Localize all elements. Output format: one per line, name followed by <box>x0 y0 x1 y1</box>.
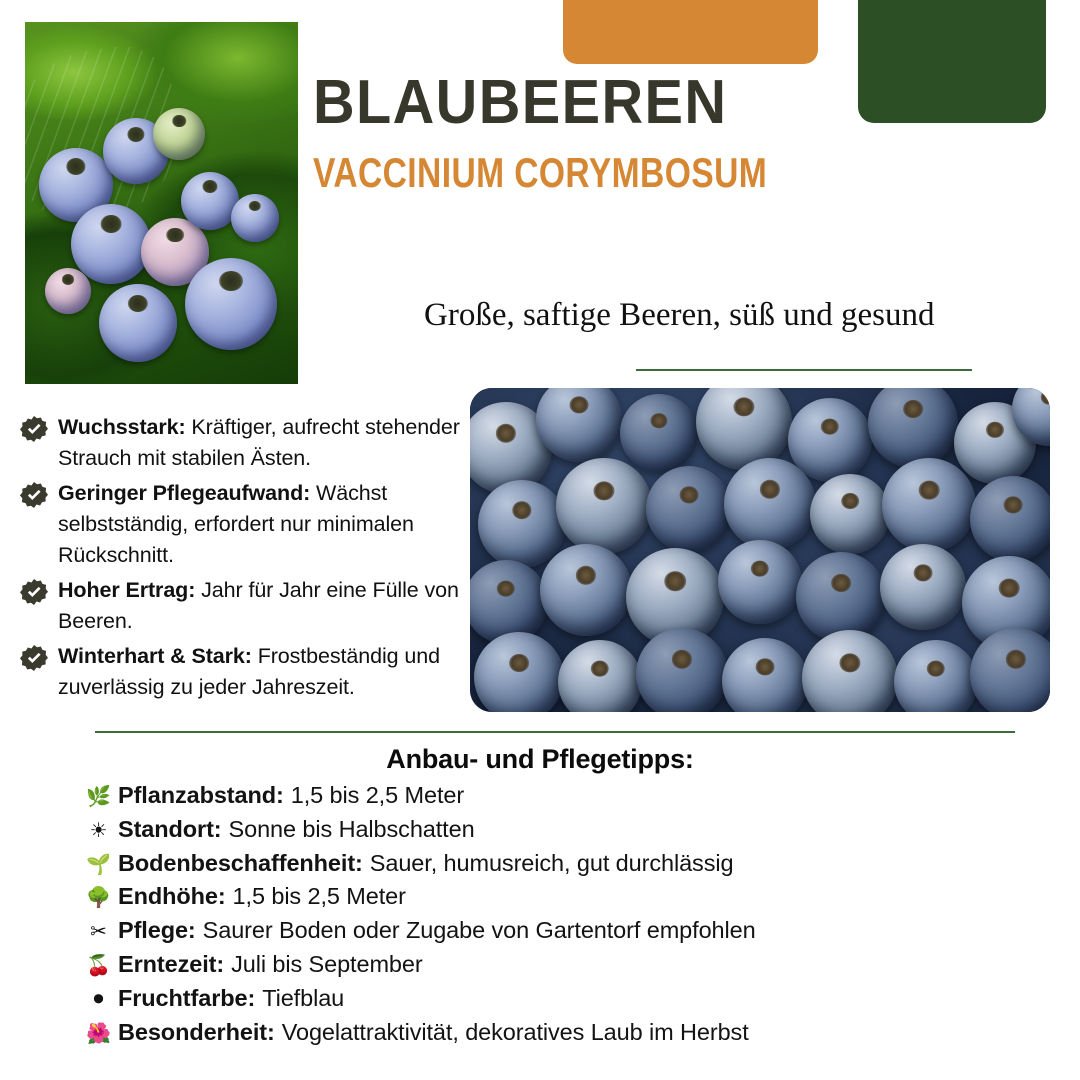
feature-label: Geringer Pflegeaufwand: <box>58 481 310 505</box>
photo-berry <box>620 394 698 472</box>
photo-berry <box>646 466 732 552</box>
care-label: Bodenbeschaffenheit: <box>118 850 363 876</box>
care-label: Endhöhe: <box>118 883 226 909</box>
page-subtitle: VACCINIUM CORYMBOSUM <box>313 152 767 194</box>
feature-text: Geringer Pflegeaufwand: Wächst selbststä… <box>58 478 475 571</box>
feature-label: Wuchsstark: <box>58 415 186 439</box>
feature-label: Hoher Ertrag: <box>58 578 195 602</box>
tagline: Große, saftige Beeren, süß und gesund <box>424 296 1024 336</box>
photo-berry <box>540 544 632 636</box>
seedling-icon: 🌱 <box>86 854 111 874</box>
tree-icon: 🌳 <box>86 887 111 907</box>
care-value: Saurer Boden oder Zugabe von Gartentorf … <box>203 917 756 943</box>
list-item: Wuchsstark: Kräftiger, aufrecht stehende… <box>20 412 475 474</box>
care-label: Erntezeit: <box>118 951 224 977</box>
list-item: 🌱 Bodenbeschaffenheit: Sauer, humusreich… <box>86 850 1046 876</box>
care-value: Tiefblau <box>262 985 344 1011</box>
sun-icon: ☀ <box>86 820 111 840</box>
list-item: 🍒 Erntezeit: Juli bis September <box>86 951 1046 977</box>
herb-icon: 🌿 <box>86 786 111 806</box>
black-circle-icon: ⚫ <box>86 989 111 1009</box>
care-tips-list: 🌿 Pflanzabstand: 1,5 bis 2,5 Meter ☀ Sta… <box>86 782 1046 1053</box>
care-value: Sauer, humusreich, gut durchlässig <box>370 850 734 876</box>
list-item: 🌳 Endhöhe: 1,5 bis 2,5 Meter <box>86 883 1046 909</box>
feature-text: Wuchsstark: Kräftiger, aufrecht stehende… <box>58 412 475 474</box>
scissors-icon: ✂ <box>86 921 111 941</box>
feature-list: Wuchsstark: Kräftiger, aufrecht stehende… <box>20 412 475 707</box>
photo-berry <box>724 458 816 550</box>
list-item: Hoher Ertrag: Jahr für Jahr eine Fülle v… <box>20 575 475 637</box>
list-item: 🌺 Besonderheit: Vogelattraktivität, deko… <box>86 1019 1046 1045</box>
check-seal-icon <box>20 644 48 672</box>
green-decor-block <box>858 0 1046 123</box>
page-title: BLAUBEEREN <box>313 72 727 134</box>
feature-text: Hoher Ertrag: Jahr für Jahr eine Fülle v… <box>58 575 475 637</box>
care-value: Vogelattraktivität, dekoratives Laub im … <box>282 1019 749 1045</box>
photo-berry <box>882 458 976 552</box>
bottom-divider <box>95 731 1015 733</box>
top-divider <box>636 369 972 371</box>
care-value: Sonne bis Halbschatten <box>229 816 475 842</box>
cherries-icon: 🍒 <box>86 955 111 975</box>
care-label: Besonderheit: <box>118 1019 275 1045</box>
hibiscus-icon: 🌺 <box>86 1023 111 1043</box>
orange-decor-block <box>563 0 818 64</box>
photo-berry <box>153 108 205 160</box>
photo-berry <box>45 268 91 314</box>
photo-berry <box>718 540 802 624</box>
care-label: Pflanzabstand: <box>118 782 284 808</box>
photo-berry <box>99 284 177 362</box>
check-seal-icon <box>20 415 48 443</box>
photo-berry <box>231 194 279 242</box>
photo-berry <box>478 480 566 568</box>
photo-berry <box>880 544 966 630</box>
photo-berry <box>556 458 652 554</box>
feature-text: Winterhart & Stark: Frostbeständig und z… <box>58 641 475 703</box>
list-item: Geringer Pflegeaufwand: Wächst selbststä… <box>20 478 475 571</box>
photo-berry <box>185 258 277 350</box>
list-item: ✂ Pflege: Saurer Boden oder Zugabe von G… <box>86 917 1046 943</box>
check-seal-icon <box>20 481 48 509</box>
photo-berry <box>810 474 890 554</box>
photo-berry <box>796 552 886 642</box>
care-value: Juli bis September <box>231 951 423 977</box>
care-value: 1,5 bis 2,5 Meter <box>233 883 406 909</box>
list-item: ⚫ Fruchtfarbe: Tiefblau <box>86 985 1046 1011</box>
photo-berry <box>71 204 151 284</box>
blueberry-bush-photo <box>25 22 298 384</box>
photo-berry <box>636 628 728 712</box>
feature-label: Winterhart & Stark: <box>58 644 252 668</box>
check-seal-icon <box>20 578 48 606</box>
blueberry-pile-photo <box>470 388 1050 712</box>
infographic-page: BLAUBEEREN VACCINIUM CORYMBOSUM Große, s… <box>0 0 1080 1080</box>
care-section-heading: Anbau- und Pflegetipps: <box>0 744 1080 775</box>
list-item: Winterhart & Stark: Frostbeständig und z… <box>20 641 475 703</box>
list-item: 🌿 Pflanzabstand: 1,5 bis 2,5 Meter <box>86 782 1046 808</box>
care-label: Pflege: <box>118 917 196 943</box>
list-item: ☀ Standort: Sonne bis Halbschatten <box>86 816 1046 842</box>
photo-berry <box>970 476 1050 562</box>
care-label: Standort: <box>118 816 222 842</box>
care-value: 1,5 bis 2,5 Meter <box>291 782 464 808</box>
photo-berry <box>474 632 564 712</box>
care-label: Fruchtfarbe: <box>118 985 255 1011</box>
